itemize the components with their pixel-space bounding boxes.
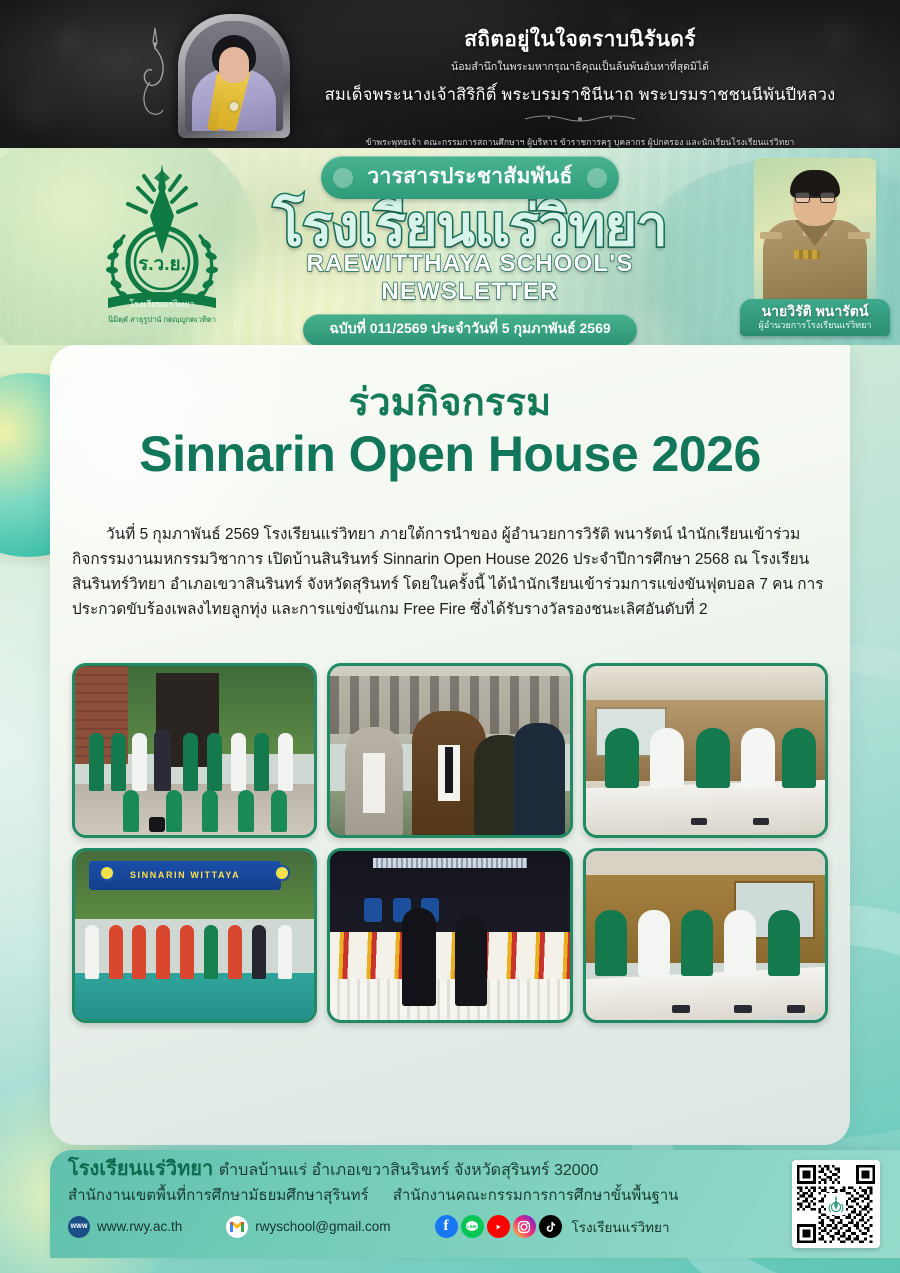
director-role: ผู้อำนวยการโรงเรียนแร่วิทยา (744, 320, 886, 331)
qr-center-logo-icon (826, 1193, 846, 1215)
website-contact[interactable]: WWW www.rwy.ac.th (68, 1216, 182, 1238)
footer-office-1: สำนักงานเขตพื้นที่การศึกษามัธยมศึกษาสุริ… (68, 1187, 369, 1204)
email-contact[interactable]: rwyschool@gmail.com (226, 1216, 390, 1238)
photo-6-male-students-at-table[interactable] (583, 848, 828, 1023)
royal-title: สมเด็จพระนางเจ้าสิริกิติ์ พระบรมราชินีนา… (300, 82, 860, 108)
footer-address: ตำบลบ้านแร่ อำเภอเขวาสินรินทร์ จังหวัดสุ… (219, 1162, 599, 1179)
school-name-english: RAEWITTHAYA SCHOOL'S NEWSLETTER (240, 250, 700, 306)
crest-motto-text: นิมิตฺตํ สาธุรูปานํ กตญฺญูกตเวทิตา (108, 315, 216, 324)
pill-dot-right-icon (587, 168, 607, 188)
photo-4-sports-team-banner[interactable]: SINNARIN WITTAYA (72, 848, 317, 1023)
headline-line-2: Sinnarin Open House 2026 (50, 427, 850, 481)
article-headline: ร่วมกิจกรรม Sinnarin Open House 2026 (50, 383, 850, 481)
photo-2-administrators[interactable] (327, 663, 572, 838)
facebook-icon[interactable]: f (435, 1215, 458, 1238)
school-qr-code[interactable] (792, 1160, 880, 1248)
masthead-banner: ร.ว.ย. (0, 148, 900, 345)
newsletter-type-label: วารสารประชาสัมพันธ์ (367, 165, 572, 188)
footer-panel: โรงเรียนแร่วิทยา ตำบลบ้านแร่ อำเภอเขวาสิ… (50, 1150, 900, 1258)
social-icon-row: f LINE (435, 1215, 562, 1238)
issue-date-badge: ฉบับที่ 011/2569 ประจำวันที่ 5 กุมภาพันธ… (303, 314, 636, 345)
royal-thai-emblem-icon (132, 26, 178, 122)
royal-headline: สถิตอยู่ในใจตราบนิรันดร์ (300, 26, 860, 54)
royal-homage-header: สถิตอยู่ในใจตราบนิรันดร์ น้อมสำนึกในพระม… (0, 0, 900, 148)
photo-gallery: SINNARIN WITTAYA (72, 663, 828, 1023)
director-card: นายวิรัติ พนารัตน์ ผู้อำนวยการโรงเรียนแร… (740, 158, 890, 336)
footer-school-line: โรงเรียนแร่วิทยา ตำบลบ้านแร่ อำเภอเขวาสิ… (68, 1158, 598, 1180)
instagram-icon[interactable] (513, 1215, 536, 1238)
ornamental-divider-icon (515, 114, 645, 124)
website-url: www.rwy.ac.th (97, 1219, 182, 1234)
director-name: นายวิรัติ พนารัตน์ (744, 303, 886, 319)
photo-3-female-students-at-table[interactable] (583, 663, 828, 838)
director-photo (754, 158, 876, 306)
royal-portrait-frame (178, 14, 290, 138)
youtube-icon[interactable] (487, 1215, 510, 1238)
footer-offices: สำนักงานเขตพื้นที่การศึกษามัธยมศึกษาสุริ… (68, 1187, 698, 1205)
banner-text: SINNARIN WITTAYA (130, 870, 240, 880)
line-icon[interactable]: LINE (461, 1215, 484, 1238)
sinnarin-wittaya-banner: SINNARIN WITTAYA (89, 861, 280, 890)
newsletter-page: สถิตอยู่ในใจตราบนิรันดร์ น้อมสำนึกในพระม… (0, 0, 900, 1273)
footer-school-name: โรงเรียนแร่วิทยา (68, 1158, 213, 1180)
pill-dot-left-icon (333, 168, 353, 188)
social-account-label: โรงเรียนแร่วิทยา (572, 1216, 670, 1238)
tiktok-icon[interactable] (539, 1215, 562, 1238)
headline-line-1: ร่วมกิจกรรม (50, 383, 850, 425)
article-card: ร่วมกิจกรรม Sinnarin Open House 2026 วัน… (50, 345, 850, 1145)
newsletter-type-pill: วารสารประชาสัมพันธ์ (321, 156, 618, 199)
svg-text:ร.ว.ย.: ร.ว.ย. (138, 254, 186, 275)
masthead-title-block: วารสารประชาสัมพันธ์ โรงเรียนแร่วิทยา RAE… (240, 156, 700, 345)
royal-homage-text: สถิตอยู่ในใจตราบนิรันดร์ น้อมสำนึกในพระม… (300, 26, 860, 148)
eyeglasses-icon (795, 192, 835, 204)
email-address: rwyschool@gmail.com (255, 1219, 390, 1234)
footer-contacts: WWW www.rwy.ac.th rwyschool@gmail.com f (68, 1215, 670, 1238)
director-nameplate: นายวิรัติ พนารัตน์ ผู้อำนวยการโรงเรียนแร… (740, 299, 890, 336)
gmail-icon (226, 1216, 248, 1238)
royal-subtext: น้อมสำนึกในพระมหากรุณาธิคุณเป็นล้นพ้นอัน… (300, 58, 860, 75)
crest-ribbon-text: โรงเรียนแร่วิทยา (129, 299, 194, 309)
royal-signatories: ข้าพระพุทธเจ้า คณะกรรมการสถานศึกษาฯ ผู้บ… (300, 135, 860, 148)
photo-1-students-with-teachers[interactable] (72, 663, 317, 838)
article-body-text: วันที่ 5 กุมภาพันธ์ 2569 โรงเรียนแร่วิทย… (72, 523, 828, 623)
school-crest-logo: ร.ว.ย. (78, 158, 246, 330)
photo-5-stage-presentation[interactable] (327, 848, 572, 1023)
royal-portrait-image (185, 21, 283, 131)
school-name-thai: โรงเรียนแร่วิทยา (240, 197, 700, 254)
svg-text:LINE: LINE (467, 1224, 477, 1229)
footer-office-2: สำนักงานคณะกรรมการการศึกษาขั้นพื้นฐาน (393, 1187, 679, 1204)
globe-www-icon: WWW (68, 1216, 90, 1238)
